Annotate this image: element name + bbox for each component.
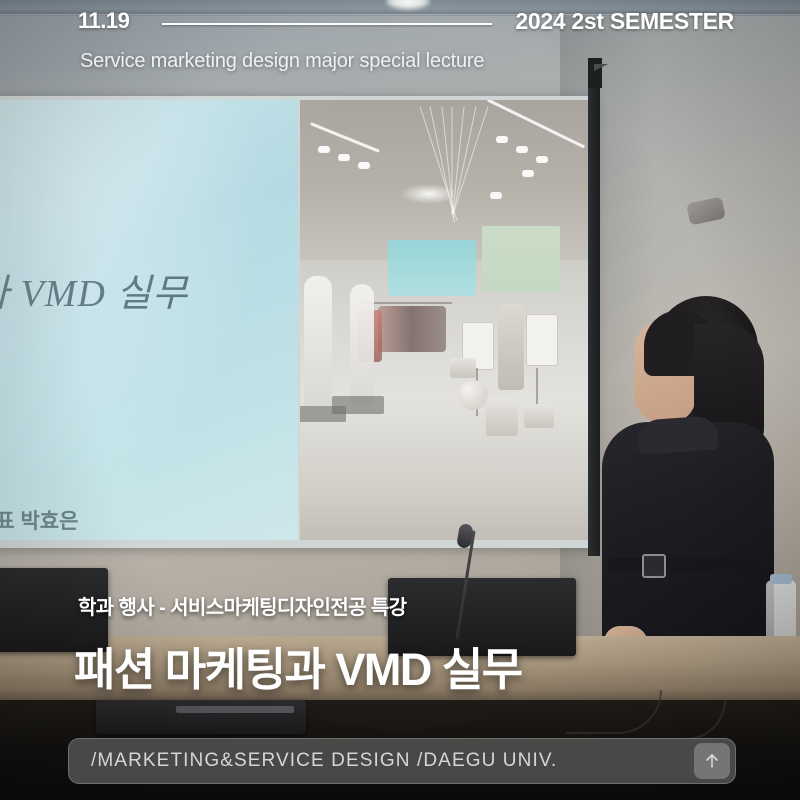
page-title: 패션 마케팅과 VMD 실무	[74, 633, 522, 698]
screen-mount	[588, 58, 602, 88]
store-back-wall-art	[388, 240, 476, 296]
event-label: 학과 행사 - 서비스마케팅디자인전공 특강	[78, 591, 407, 620]
department-credit-text: /MARKETING&SERVICE DESIGN /DAEGU UNIV.	[69, 750, 694, 772]
arrow-up-icon	[702, 751, 722, 771]
slide-gloss	[0, 100, 298, 540]
bottom-info-bar[interactable]: /MARKETING&SERVICE DESIGN /DAEGU UNIV.	[68, 738, 736, 784]
semester-label: 2024 2st SEMESTER	[515, 8, 734, 35]
monitor-rear-edge	[176, 706, 294, 713]
slide-title-text: 가 VMD 실무	[0, 262, 294, 317]
lecture-photo-card: 가 VMD 실무 대표 박효은	[0, 0, 800, 800]
lecturer-collar	[637, 415, 719, 454]
lecturer-belt	[608, 558, 758, 573]
store-green-panel	[482, 226, 560, 292]
scroll-up-button[interactable]	[694, 743, 730, 779]
slide-byline-text: 대표 박효은	[0, 505, 236, 535]
store-chandelier	[400, 184, 458, 204]
english-subtitle: Service marketing design major special l…	[80, 50, 484, 73]
slide-store-photo	[300, 100, 596, 540]
cable	[596, 700, 726, 740]
water-bottle-cap	[770, 574, 792, 584]
header-divider	[162, 23, 492, 25]
mannequin	[350, 284, 374, 406]
mannequin	[304, 276, 332, 406]
lecturer-figure	[598, 296, 776, 676]
date-label: 11.19	[78, 8, 129, 34]
lecturer-belt-buckle	[642, 554, 666, 578]
